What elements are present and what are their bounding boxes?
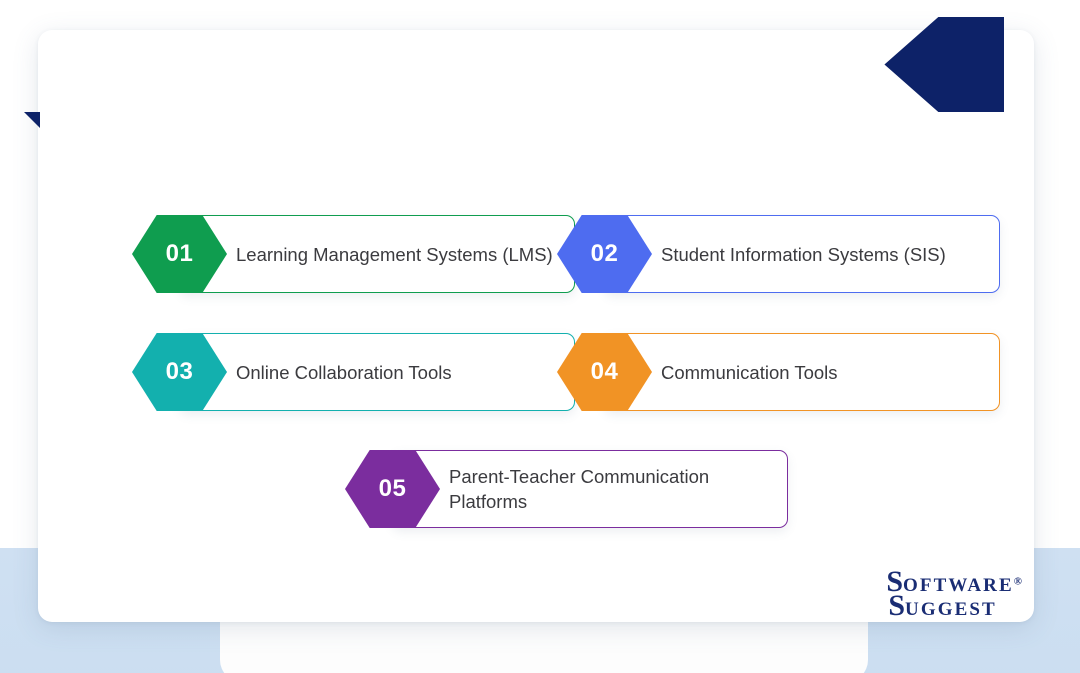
- item-label: Student Information Systems (SIS): [605, 242, 960, 267]
- logo-s-2: S: [888, 589, 905, 622]
- item-card[interactable]: Parent-Teacher Communication Platforms: [392, 450, 788, 528]
- infographic-canvas: Software Related To Classroom Management…: [0, 0, 1080, 673]
- softwaresuggest-logo: SOFTWARE® SUGGEST: [886, 567, 1022, 621]
- item-card[interactable]: Student Information Systems (SIS): [604, 215, 1000, 293]
- item-number: 04: [591, 358, 619, 386]
- item-number: 03: [166, 358, 194, 386]
- item-label: Parent-Teacher Communication Platforms: [393, 464, 787, 514]
- item-number: 02: [591, 240, 619, 268]
- item-number: 01: [166, 240, 194, 268]
- item-label: Learning Management Systems (LMS): [180, 242, 567, 267]
- item-number: 05: [379, 475, 407, 503]
- registered-icon: ®: [1014, 576, 1022, 588]
- item-card[interactable]: Learning Management Systems (LMS): [179, 215, 575, 293]
- logo-word-2: UGGEST: [905, 599, 997, 620]
- item-card[interactable]: Online Collaboration Tools: [179, 333, 575, 411]
- item-card[interactable]: Communication Tools: [604, 333, 1000, 411]
